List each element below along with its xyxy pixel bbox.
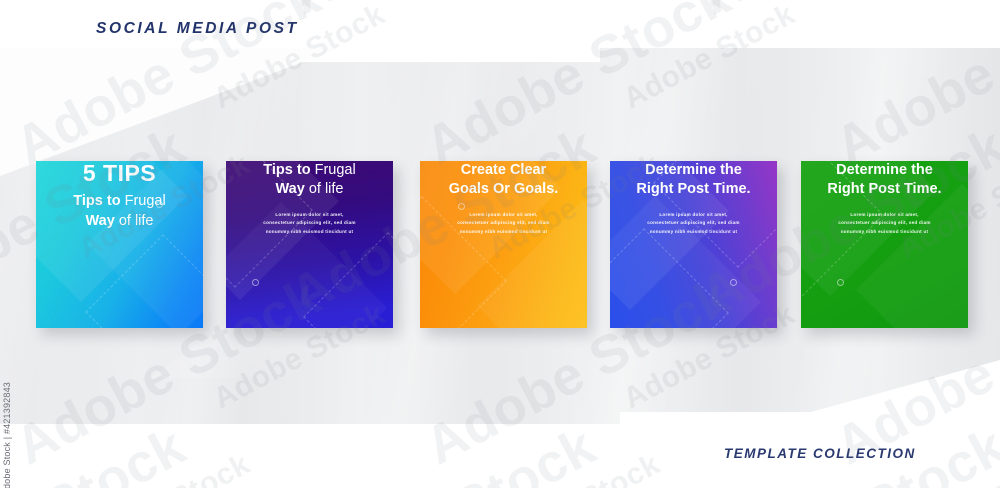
card-heading-strong-2: Right Post Time. — [636, 181, 750, 197]
card-outline-shape — [85, 234, 203, 328]
body-line-2: consectetuer adipiscing elit, sed diam — [434, 219, 573, 227]
card-heading-light-2: of life — [305, 181, 344, 197]
card-heading-strong-2: Way — [276, 181, 305, 197]
template-card-1[interactable]: 5 TIPS Tips to Frugal Way of life — [36, 161, 203, 328]
card-heading: Determine the Right Post Time. — [624, 161, 763, 200]
body-line-2: consectetuer adipiscing elit, sed diam — [240, 219, 379, 227]
circle-dot-icon — [730, 279, 737, 286]
body-line-2: consectetuer adipiscing elit, sed diam — [815, 219, 954, 227]
card-heading-strong-2: Right Post Time. — [827, 181, 941, 197]
card-heading: Determine the Right Post Time. — [815, 161, 954, 200]
card-heading-strong-1: Determine the — [645, 162, 742, 178]
card-heading-light-2: of life — [115, 213, 154, 229]
template-card-gallery: 5 TIPS Tips to Frugal Way of life Tips t… — [0, 0, 1000, 488]
body-line-3: nonummy nibh euismod tincidunt ut — [434, 228, 573, 236]
card-heading: Create Clear Goals Or Goals. — [434, 161, 573, 200]
card-content: 5 TIPS Tips to Frugal Way of life — [36, 161, 203, 231]
card-heading-strong-1: Tips to — [263, 162, 310, 178]
card-body-copy: Lorem ipsum dolor sit amet, consectetuer… — [434, 211, 573, 236]
template-card-2[interactable]: Tips to Frugal Way of life Lorem ipsum d… — [226, 161, 393, 328]
card-content: Determine the Right Post Time. Lorem ips… — [610, 161, 777, 236]
card-heading-light-1: Frugal — [121, 193, 166, 209]
body-line-1: Lorem ipsum dolor sit amet, — [624, 211, 763, 219]
card-heading-strong-1: Create Clear — [461, 162, 546, 178]
card-content: Create Clear Goals Or Goals. Lorem ipsum… — [420, 161, 587, 236]
card-outline-shape — [610, 228, 729, 328]
card-content: Tips to Frugal Way of life Lorem ipsum d… — [226, 161, 393, 236]
body-line-1: Lorem ipsum dolor sit amet, — [434, 211, 573, 219]
card-heading-strong-1: Tips to — [73, 193, 120, 209]
template-card-4[interactable]: Determine the Right Post Time. Lorem ips… — [610, 161, 777, 328]
template-card-5[interactable]: Determine the Right Post Time. Lorem ips… — [801, 161, 968, 328]
body-line-1: Lorem ipsum dolor sit amet, — [815, 211, 954, 219]
card-heading-strong-1: Determine the — [836, 162, 933, 178]
body-line-3: nonummy nibh euismod tincidunt ut — [624, 228, 763, 236]
card-heading-strong-2: Goals Or Goals. — [449, 181, 559, 197]
card-content: Determine the Right Post Time. Lorem ips… — [801, 161, 968, 236]
stock-credit-label: Adobe Stock | #421392843 — [2, 382, 12, 488]
body-line-3: nonummy nibh euismod tincidunt ut — [240, 228, 379, 236]
body-line-1: Lorem ipsum dolor sit amet, — [240, 211, 379, 219]
card-heading: Tips to Frugal Way of life — [240, 161, 379, 200]
circle-dot-icon — [252, 279, 259, 286]
card-heading: Tips to Frugal Way of life — [50, 192, 189, 231]
card-body-copy: Lorem ipsum dolor sit amet, consectetuer… — [624, 211, 763, 236]
card-outline-shape — [303, 232, 393, 328]
poster-canvas: SOCIAL MEDIA POST TEMPLATE COLLECTION 5 … — [0, 0, 1000, 488]
card-kicker: 5 TIPS — [50, 161, 189, 186]
card-body-copy: Lorem ipsum dolor sit amet, consectetuer… — [240, 211, 379, 236]
circle-dot-icon — [837, 279, 844, 286]
card-heading-light-1: Frugal — [311, 162, 356, 178]
body-line-3: nonummy nibh euismod tincidunt ut — [815, 228, 954, 236]
card-heading-strong-2: Way — [86, 213, 115, 229]
template-card-3[interactable]: Create Clear Goals Or Goals. Lorem ipsum… — [420, 161, 587, 328]
body-line-2: consectetuer adipiscing elit, sed diam — [624, 219, 763, 227]
card-body-copy: Lorem ipsum dolor sit amet, consectetuer… — [815, 211, 954, 236]
